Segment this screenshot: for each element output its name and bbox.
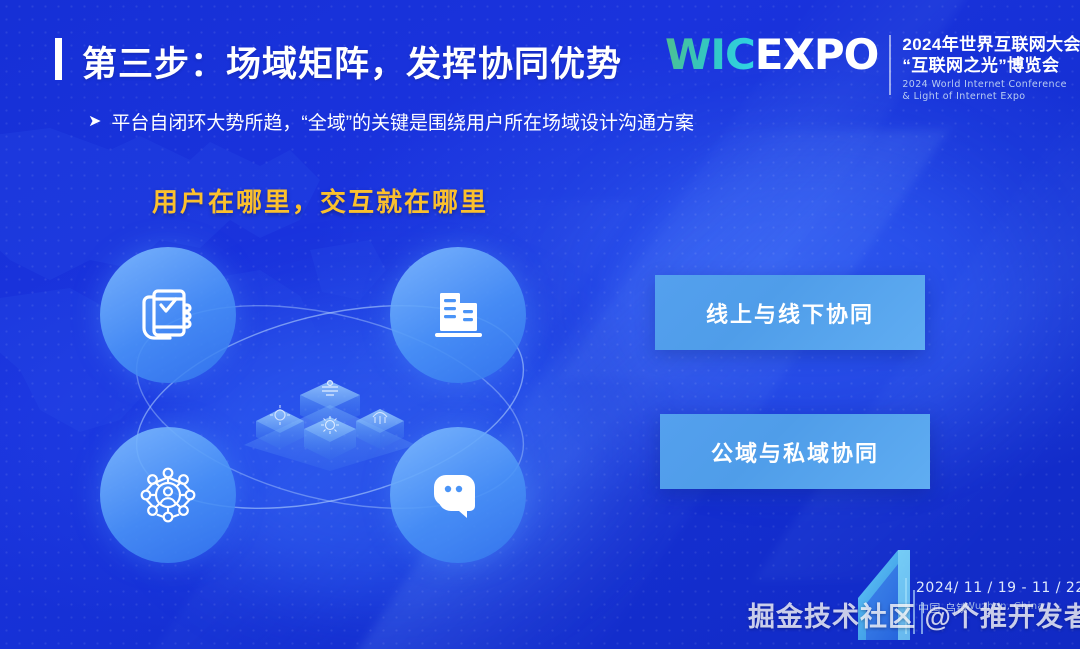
wic-expo-logo: WICEXPO 2024年世界互联网大会 “互联网之光”博览会 2024 Wor… xyxy=(665,33,1080,103)
logo-divider xyxy=(889,35,891,95)
logo-en-line1: 2024 World Internet Conference xyxy=(902,79,1080,91)
headline-text: 用户在哪里，交互就在哪里 xyxy=(152,182,488,219)
subtitle-text: 平台自闭环大势所趋，“全域”的关键是围绕用户所在场域设计沟通方案 xyxy=(111,108,694,135)
user-network-icon xyxy=(132,459,204,531)
mobile-check-icon xyxy=(132,279,204,351)
logo-expo-text: EXPO xyxy=(755,30,879,79)
arrow-bullet-icon: ➤ xyxy=(88,114,101,130)
chat-bubbles-icon xyxy=(422,459,494,531)
logo-wic-text: WIC xyxy=(665,30,755,79)
pill-label: 公域与私域协同 xyxy=(711,436,879,468)
pill-online-offline[interactable]: 线上与线下协同 xyxy=(655,275,925,350)
presentation-slide: 第三步：场域矩阵，发挥协同优势 WICEXPO 2024年世界互联网大会 “互联… xyxy=(0,0,1080,649)
title-accent-bar xyxy=(55,38,62,80)
logo-cn-line1: 2024年世界互联网大会 xyxy=(902,34,1080,55)
bubble-chat[interactable] xyxy=(390,427,526,563)
event-date: 2024/ 11 / 19 - 11 / 22 xyxy=(916,580,1080,596)
bubble-store-building[interactable] xyxy=(390,247,526,383)
bubble-user-network[interactable] xyxy=(100,427,236,563)
watermark-text: 掘金技术社区 @个推开发者 xyxy=(748,595,1080,634)
pill-label: 线上与线下协同 xyxy=(706,297,874,329)
store-building-icon xyxy=(422,279,494,351)
subtitle-line: ➤ 平台自闭环大势所趋，“全域”的关键是围绕用户所在场域设计沟通方案 xyxy=(88,108,694,135)
logo-cn-line2: “互联网之光”博览会 xyxy=(902,55,1080,76)
logo-en-line2: & Light of Internet Expo xyxy=(902,91,1080,103)
scenario-matrix-diagram xyxy=(80,235,580,595)
pill-public-private[interactable]: 公域与私域协同 xyxy=(660,414,930,489)
bubble-mobile-check[interactable] xyxy=(100,247,236,383)
isometric-cube-matrix-icon xyxy=(230,345,430,475)
slide-header: 第三步：场域矩阵，发挥协同优势 WICEXPO 2024年世界互联网大会 “互联… xyxy=(0,0,1080,100)
page-title: 第三步：场域矩阵，发挥协同优势 xyxy=(82,36,622,87)
